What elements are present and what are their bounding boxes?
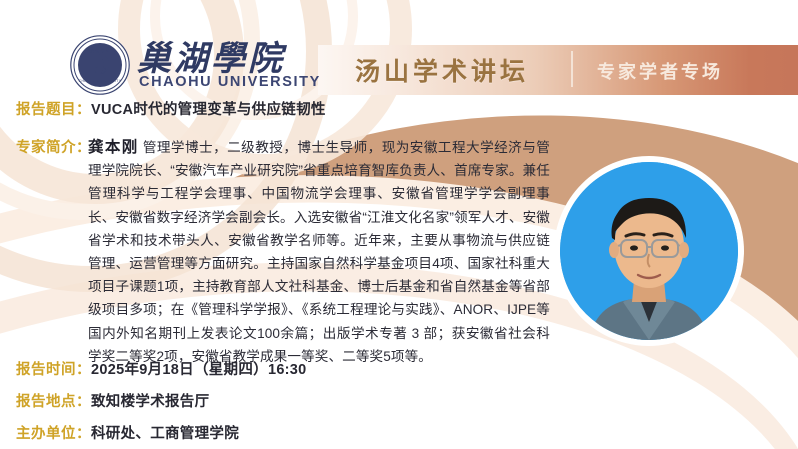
banner-title: 汤山学术讲坛 <box>355 52 529 88</box>
report-title-value: VUCA时代的管理变革与供应链韧性 <box>91 98 326 119</box>
report-title-label: 报告题目： <box>16 98 91 119</box>
school-name-english: CHAOHU UNIVERSITY <box>139 74 321 90</box>
chaohu-university-seal-icon: 巢 湖 学 院 CHAOHU UNIVERSITY <box>69 34 131 96</box>
report-place-value: 致知楼学术报告厅 <box>91 390 209 411</box>
speaker-name: 龚本刚 <box>88 139 139 156</box>
seminar-poster: 巢 湖 学 院 CHAOHU UNIVERSITY 巢湖學院 CHAOHU UN… <box>0 0 798 449</box>
report-time-row: 报告时间： 2025年9月18日（星期四）16:30 <box>16 358 307 379</box>
report-host-row: 主办单位： 科研处、工商管理学院 <box>16 422 239 443</box>
report-place-row: 报告地点： 致知楼学术报告厅 <box>16 390 209 411</box>
report-time-value: 2025年9月18日（星期四）16:30 <box>91 358 307 379</box>
svg-text:巢 湖 学 院: 巢 湖 学 院 <box>90 48 111 55</box>
report-host-label: 主办单位： <box>16 422 91 443</box>
svg-text:CHAOHU UNIVERSITY: CHAOHU UNIVERSITY <box>79 79 122 83</box>
report-host-value: 科研处、工商管理学院 <box>91 422 239 443</box>
school-name-chinese: 巢湖學院 <box>137 31 285 80</box>
report-title-row: 报告题目： VUCA时代的管理变革与供应链韧性 <box>16 98 326 119</box>
banner-subtitle: 专家学者专场 <box>597 58 723 84</box>
speaker-bio-paragraph: 管理学博士，二级教授，博士生导师，现为安徽工程大学经济与管理学院院长、“安徽汽车… <box>88 140 550 364</box>
report-place-label: 报告地点： <box>16 390 91 411</box>
speaker-portrait-photo <box>560 162 738 340</box>
banner-divider <box>571 51 573 87</box>
speaker-bio-text: 龚本刚 管理学博士，二级教授，博士生导师，现为安徽工程大学经济与管理学院院长、“… <box>16 136 550 368</box>
report-time-label: 报告时间： <box>16 358 91 379</box>
